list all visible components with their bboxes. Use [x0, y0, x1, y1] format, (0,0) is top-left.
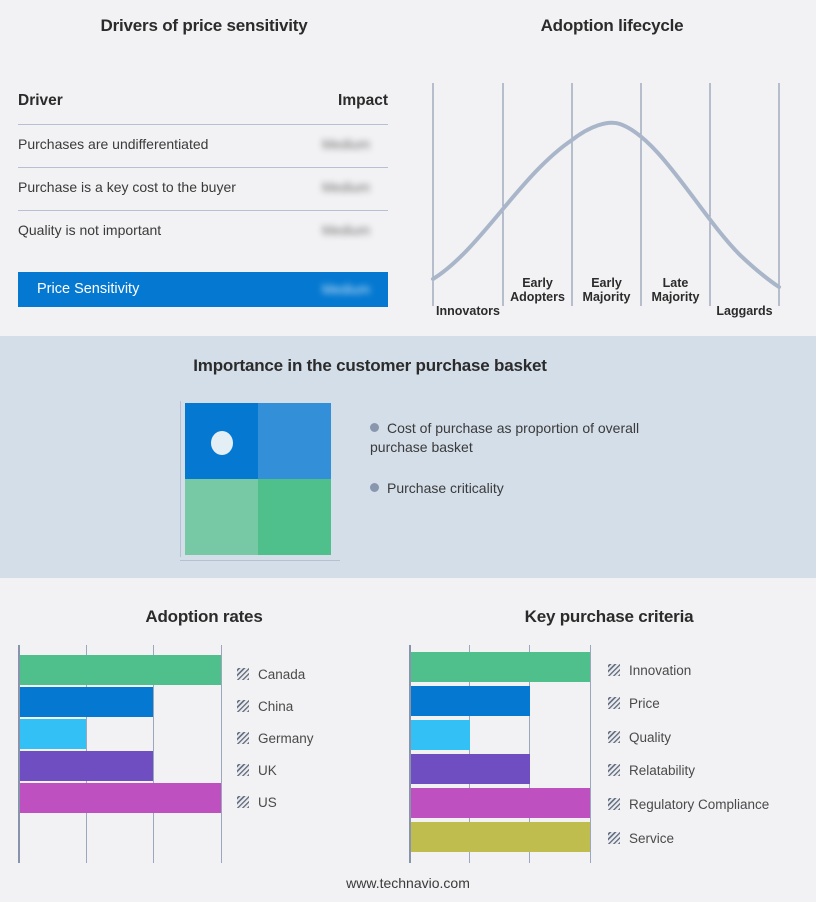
gridline	[590, 645, 591, 863]
legend-label: Innovation	[629, 663, 691, 678]
bar-service[interactable]	[411, 822, 590, 852]
legend-item-relatability[interactable]: Relatability	[608, 763, 695, 778]
legend-label: Regulatory Compliance	[629, 797, 769, 812]
legend-item-quality[interactable]: Quality	[608, 730, 671, 745]
hatch-swatch-icon	[608, 731, 620, 743]
legend-item-service[interactable]: Service	[608, 831, 674, 846]
infographic-page: Drivers of price sensitivity Driver Impa…	[0, 0, 816, 902]
legend-label: Service	[629, 831, 674, 846]
footer-url: www.technavio.com	[0, 875, 816, 891]
legend-label: Quality	[629, 730, 671, 745]
hatch-swatch-icon	[608, 764, 620, 776]
key-purchase-criteria-chart: Innovation Price Quality Relatability Re…	[0, 0, 816, 902]
legend-item-innovation[interactable]: Innovation	[608, 663, 691, 678]
hatch-swatch-icon	[608, 697, 620, 709]
bar-price[interactable]	[411, 686, 530, 716]
bar-innovation[interactable]	[411, 652, 590, 682]
bar-relatability[interactable]	[411, 754, 530, 784]
legend-label: Price	[629, 696, 660, 711]
legend-item-price[interactable]: Price	[608, 696, 660, 711]
bar-quality[interactable]	[411, 720, 470, 750]
legend-item-regulatory-compliance[interactable]: Regulatory Compliance	[608, 797, 769, 812]
hatch-swatch-icon	[608, 798, 620, 810]
hatch-swatch-icon	[608, 832, 620, 844]
bar-regulatory-compliance[interactable]	[411, 788, 590, 818]
legend-label: Relatability	[629, 763, 695, 778]
hatch-swatch-icon	[608, 664, 620, 676]
